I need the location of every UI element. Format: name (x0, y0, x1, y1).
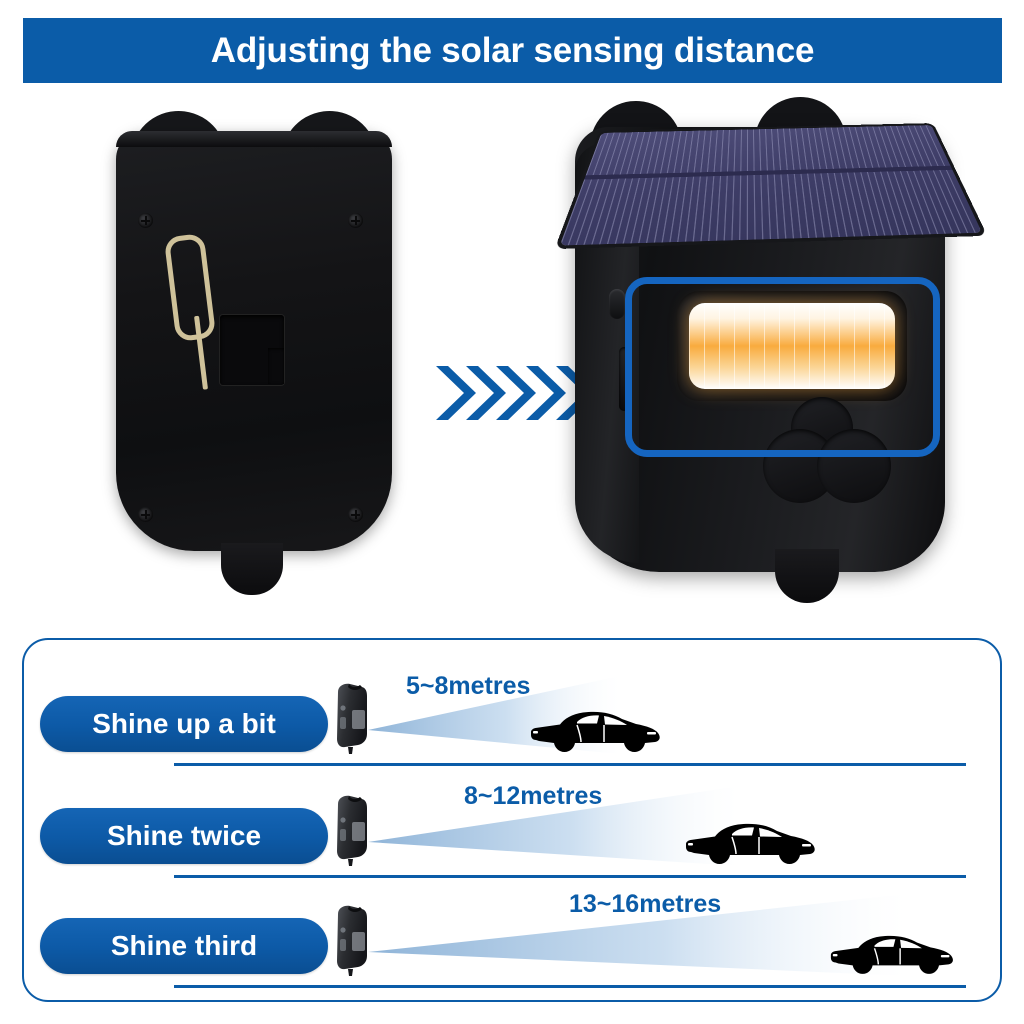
sensing-distance-panel: Shine up a bit 5~8metres (22, 638, 1002, 1002)
mode-label: Shine twice (107, 820, 261, 852)
screw-icon (138, 213, 153, 228)
screw-icon (348, 213, 363, 228)
car-silhouette-icon (529, 708, 664, 752)
mode-pill-shine-up-a-bit[interactable]: Shine up a bit (40, 696, 328, 752)
mode-pill-shine-twice[interactable]: Shine twice (40, 808, 328, 864)
screw-icon (348, 507, 363, 522)
infographic-page: Adjusting the solar sensing distance (0, 0, 1024, 1024)
solar-panel (560, 125, 982, 245)
power-button[interactable] (609, 289, 625, 319)
mode-row-shine-twice: Shine twice 8~12metres (24, 780, 1004, 890)
feature-highlight-box (625, 277, 940, 457)
solar-motion-light-front-view (575, 97, 955, 617)
distance-label: 5~8metres (406, 672, 530, 701)
sensor-device-icon (331, 794, 369, 868)
device-bottom-foot (775, 549, 839, 603)
mode-pill-shine-third[interactable]: Shine third (40, 918, 328, 974)
device-bottom-foot (221, 543, 283, 595)
solar-cell-stripes (560, 125, 982, 245)
solar-motion-light-back-view (104, 103, 404, 613)
mode-row-shine-third: Shine third 13~16metres (24, 890, 1004, 1000)
car-silhouette-icon (829, 932, 957, 976)
sensor-device-icon (331, 682, 369, 756)
mode-label: Shine third (111, 930, 257, 962)
mode-row-shine-up-a-bit: Shine up a bit 5~8metres (24, 668, 1004, 778)
car-silhouette-icon (684, 820, 819, 864)
mode-label: Shine up a bit (92, 708, 276, 740)
screw-icon (138, 507, 153, 522)
page-title-banner: Adjusting the solar sensing distance (23, 18, 1002, 83)
detection-beam (368, 780, 968, 878)
device-back-top-rim (116, 131, 392, 147)
product-hero-section (0, 83, 1024, 628)
battery-compartment-tab (268, 348, 284, 384)
page-title: Adjusting the solar sensing distance (211, 31, 814, 71)
distance-label: 13~16metres (569, 890, 721, 919)
distance-label: 8~12metres (464, 782, 602, 811)
sensor-device-icon (331, 904, 369, 978)
